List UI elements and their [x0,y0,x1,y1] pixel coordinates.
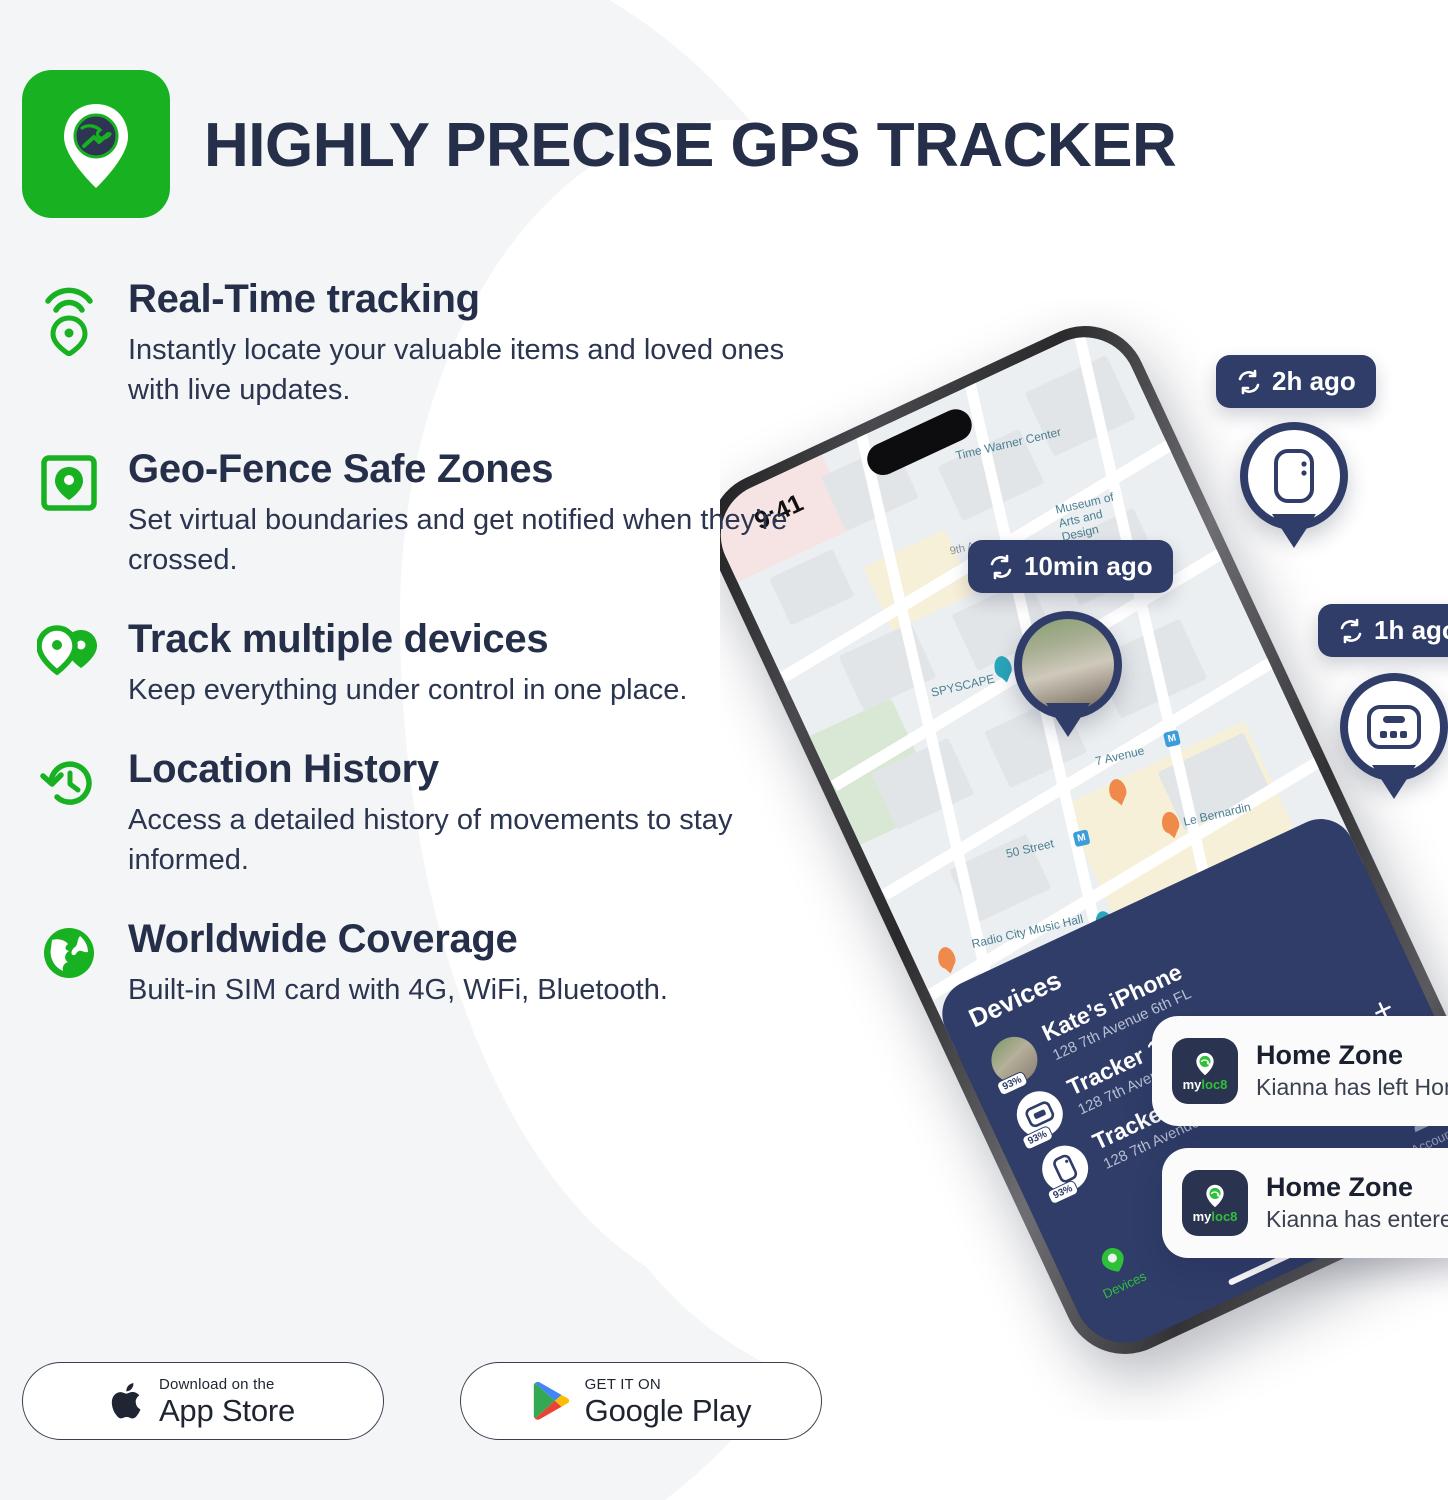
map-pin-kate-photo[interactable] [1014,611,1122,719]
badge-subtitle: Download on the [159,1377,295,1392]
map-pin-group-tracker[interactable]: 2h ago [1216,355,1376,530]
google-play-icon [531,1380,571,1422]
feature-item-real-time-tracking: Real-Time tracking Instantly locate your… [36,278,856,410]
green-pin-globe-icon [44,92,148,196]
kate-photo-avatar: 93% [984,1029,1045,1090]
feature-title: Real-Time tracking [128,278,856,320]
clock-history-icon [36,748,102,880]
map-pin-group-kate[interactable]: 10min ago [968,540,1173,719]
feature-title: Track multiple devices [128,618,856,660]
feature-desc: Instantly locate your valuable items and… [128,330,818,410]
feature-item-track-multiple-devices: Track multiple devices Keep everything u… [36,618,856,710]
badge-subtitle: GET IT ON [585,1377,752,1392]
brand-wordmark: myloc8 [1183,1078,1228,1091]
battery-badge: 93% [1021,1125,1055,1151]
feature-title: Location History [128,748,856,790]
chip-label: 10min ago [1024,551,1153,582]
badge-title: Google Play [585,1395,752,1426]
badge-title: App Store [159,1395,295,1426]
feature-desc: Keep everything under control in one pla… [128,670,818,710]
page-title: HIGHLY PRECISE GPS TRACKER [204,115,1176,177]
tracker-box-icon [1365,703,1423,751]
notification-card-entered-home[interactable]: myloc8 Home Zone Kianna has entered Home [1162,1148,1448,1258]
notification-body: Kianna has entered Home [1266,1206,1448,1232]
header: HIGHLY PRECISE GPS TRACKER [22,70,1176,218]
google-play-button[interactable]: GET IT ON Google Play [460,1362,822,1440]
map-pin-tracker[interactable] [1240,422,1348,530]
refresh-sync-icon [1338,618,1364,644]
map-pin-tracker-box[interactable] [1340,673,1448,781]
chip-label: 2h ago [1272,366,1356,397]
notification-card-left-home[interactable]: myloc8 Home Zone Kianna has left Home [1152,1016,1448,1126]
battery-badge: 93% [995,1070,1029,1096]
devices-pin-icon [1093,1240,1133,1280]
refresh-sync-icon [988,554,1014,580]
feature-item-worldwide-coverage: Worldwide Coverage Built-in SIM card wit… [36,918,856,1010]
map-pin-group-tracker2[interactable]: 1h ago [1318,604,1448,781]
refresh-sync-icon [1236,369,1262,395]
last-update-chip: 2h ago [1216,355,1376,408]
myloc8-app-icon: myloc8 [1182,1170,1248,1236]
brand-wordmark: myloc8 [1193,1210,1238,1223]
battery-badge: 93% [1046,1179,1080,1205]
feature-item-geo-fence-safe-zones: Geo-Fence Safe Zones Set virtual boundar… [36,448,856,580]
tab-devices[interactable]: Devices [1086,1237,1149,1302]
last-update-chip: 10min ago [968,540,1173,593]
last-update-chip: 1h ago [1318,604,1448,657]
app-logo [22,70,170,218]
notification-title: Home Zone [1256,1041,1448,1071]
realtime-pin-signal-icon [36,278,102,410]
feature-title: Worldwide Coverage [128,918,856,960]
feature-desc: Set virtual boundaries and get notified … [128,500,818,580]
notification-title: Home Zone [1266,1173,1448,1203]
feature-title: Geo-Fence Safe Zones [128,448,856,490]
store-badges: Download on the App Store GET IT ON Goog… [22,1362,822,1440]
feature-desc: Access a detailed history of movements t… [128,800,818,880]
globe-icon [36,918,102,1010]
apple-logo-icon [111,1381,145,1421]
feature-list: Real-Time tracking Instantly locate your… [36,278,856,1048]
tracker-device-icon: 93% [1009,1084,1070,1145]
feature-desc: Built-in SIM card with 4G, WiFi, Bluetoo… [128,970,818,1010]
tracker-device-icon [1271,447,1317,505]
feature-item-location-history: Location History Access a detailed histo… [36,748,856,880]
tracker-tag-icon: 93% [1035,1138,1096,1199]
myloc8-app-icon: myloc8 [1172,1038,1238,1104]
multiple-pins-icon [36,618,102,710]
notification-body: Kianna has left Home [1256,1074,1448,1100]
chip-label: 1h ago [1374,615,1448,646]
geofence-pin-square-icon [36,448,102,580]
app-store-button[interactable]: Download on the App Store [22,1362,384,1440]
promo-page: HIGHLY PRECISE GPS TRACKER Real-Time tra… [0,0,1448,1500]
